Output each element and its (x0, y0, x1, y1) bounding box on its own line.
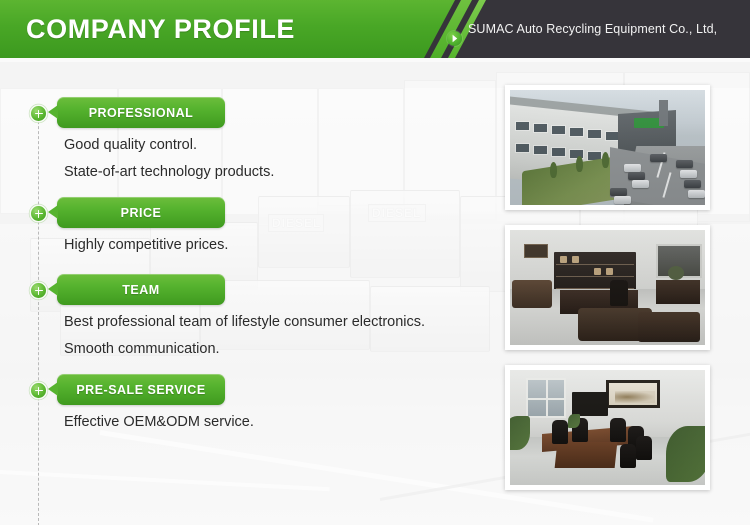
section-body: Best professional team of lifestyle cons… (64, 309, 425, 363)
badge-label: TEAM (122, 283, 159, 297)
section-badge-team[interactable]: TEAM (57, 274, 225, 305)
timeline-dashed-line (38, 106, 39, 525)
section-badge-pre-sale-service[interactable]: PRE-SALE SERVICE (57, 374, 225, 405)
plus-circle-icon (31, 106, 46, 121)
badge-tail-icon (48, 105, 58, 119)
chevron-right-circle-icon (447, 31, 462, 46)
plus-circle-icon (31, 206, 46, 221)
section-line: Good quality control. (64, 132, 274, 159)
photo-frame-meeting-room[interactable] (505, 365, 710, 490)
section-badge-professional[interactable]: PROFESSIONAL (57, 97, 225, 128)
plus-circle-icon (31, 283, 46, 298)
section-line: Smooth communication. (64, 336, 425, 363)
plus-circle-icon (31, 383, 46, 398)
badge-tail-icon (48, 205, 58, 219)
badge-label: PRICE (121, 206, 162, 220)
section-line: Highly competitive prices. (64, 232, 228, 259)
section-body: Good quality control. State-of-art techn… (64, 132, 274, 186)
badge-label: PROFESSIONAL (89, 106, 194, 120)
section-line: State-of-art technology products. (64, 159, 274, 186)
section-body: Effective OEM&ODM service. (64, 409, 254, 436)
badge-tail-icon (48, 282, 58, 296)
photo-executive-office (510, 230, 705, 345)
profile-sections: PROFESSIONAL Good quality control. State… (0, 60, 500, 525)
section-body: Highly competitive prices. (64, 232, 228, 259)
badge-label: PRE-SALE SERVICE (76, 383, 205, 397)
section-line: Best professional team of lifestyle cons… (64, 309, 425, 336)
photo-factory-building (510, 90, 705, 205)
page-title: COMPANY PROFILE (26, 12, 295, 46)
company-name: SUMAC Auto Recycling Equipment Co., Ltd, (468, 0, 717, 58)
photo-frame-factory-building[interactable] (505, 85, 710, 210)
section-line: Effective OEM&ODM service. (64, 409, 254, 436)
photo-frame-executive-office[interactable] (505, 225, 710, 350)
header-bar: COMPANY PROFILE SUMAC Auto Recycling Equ… (0, 0, 750, 60)
photo-meeting-room (510, 370, 705, 485)
badge-tail-icon (48, 382, 58, 396)
company-profile-slide: DIESEL DIESEL COMPANY PROFILE SUMAC Auto… (0, 0, 750, 525)
section-badge-price[interactable]: PRICE (57, 197, 225, 228)
photo-column (505, 85, 720, 505)
